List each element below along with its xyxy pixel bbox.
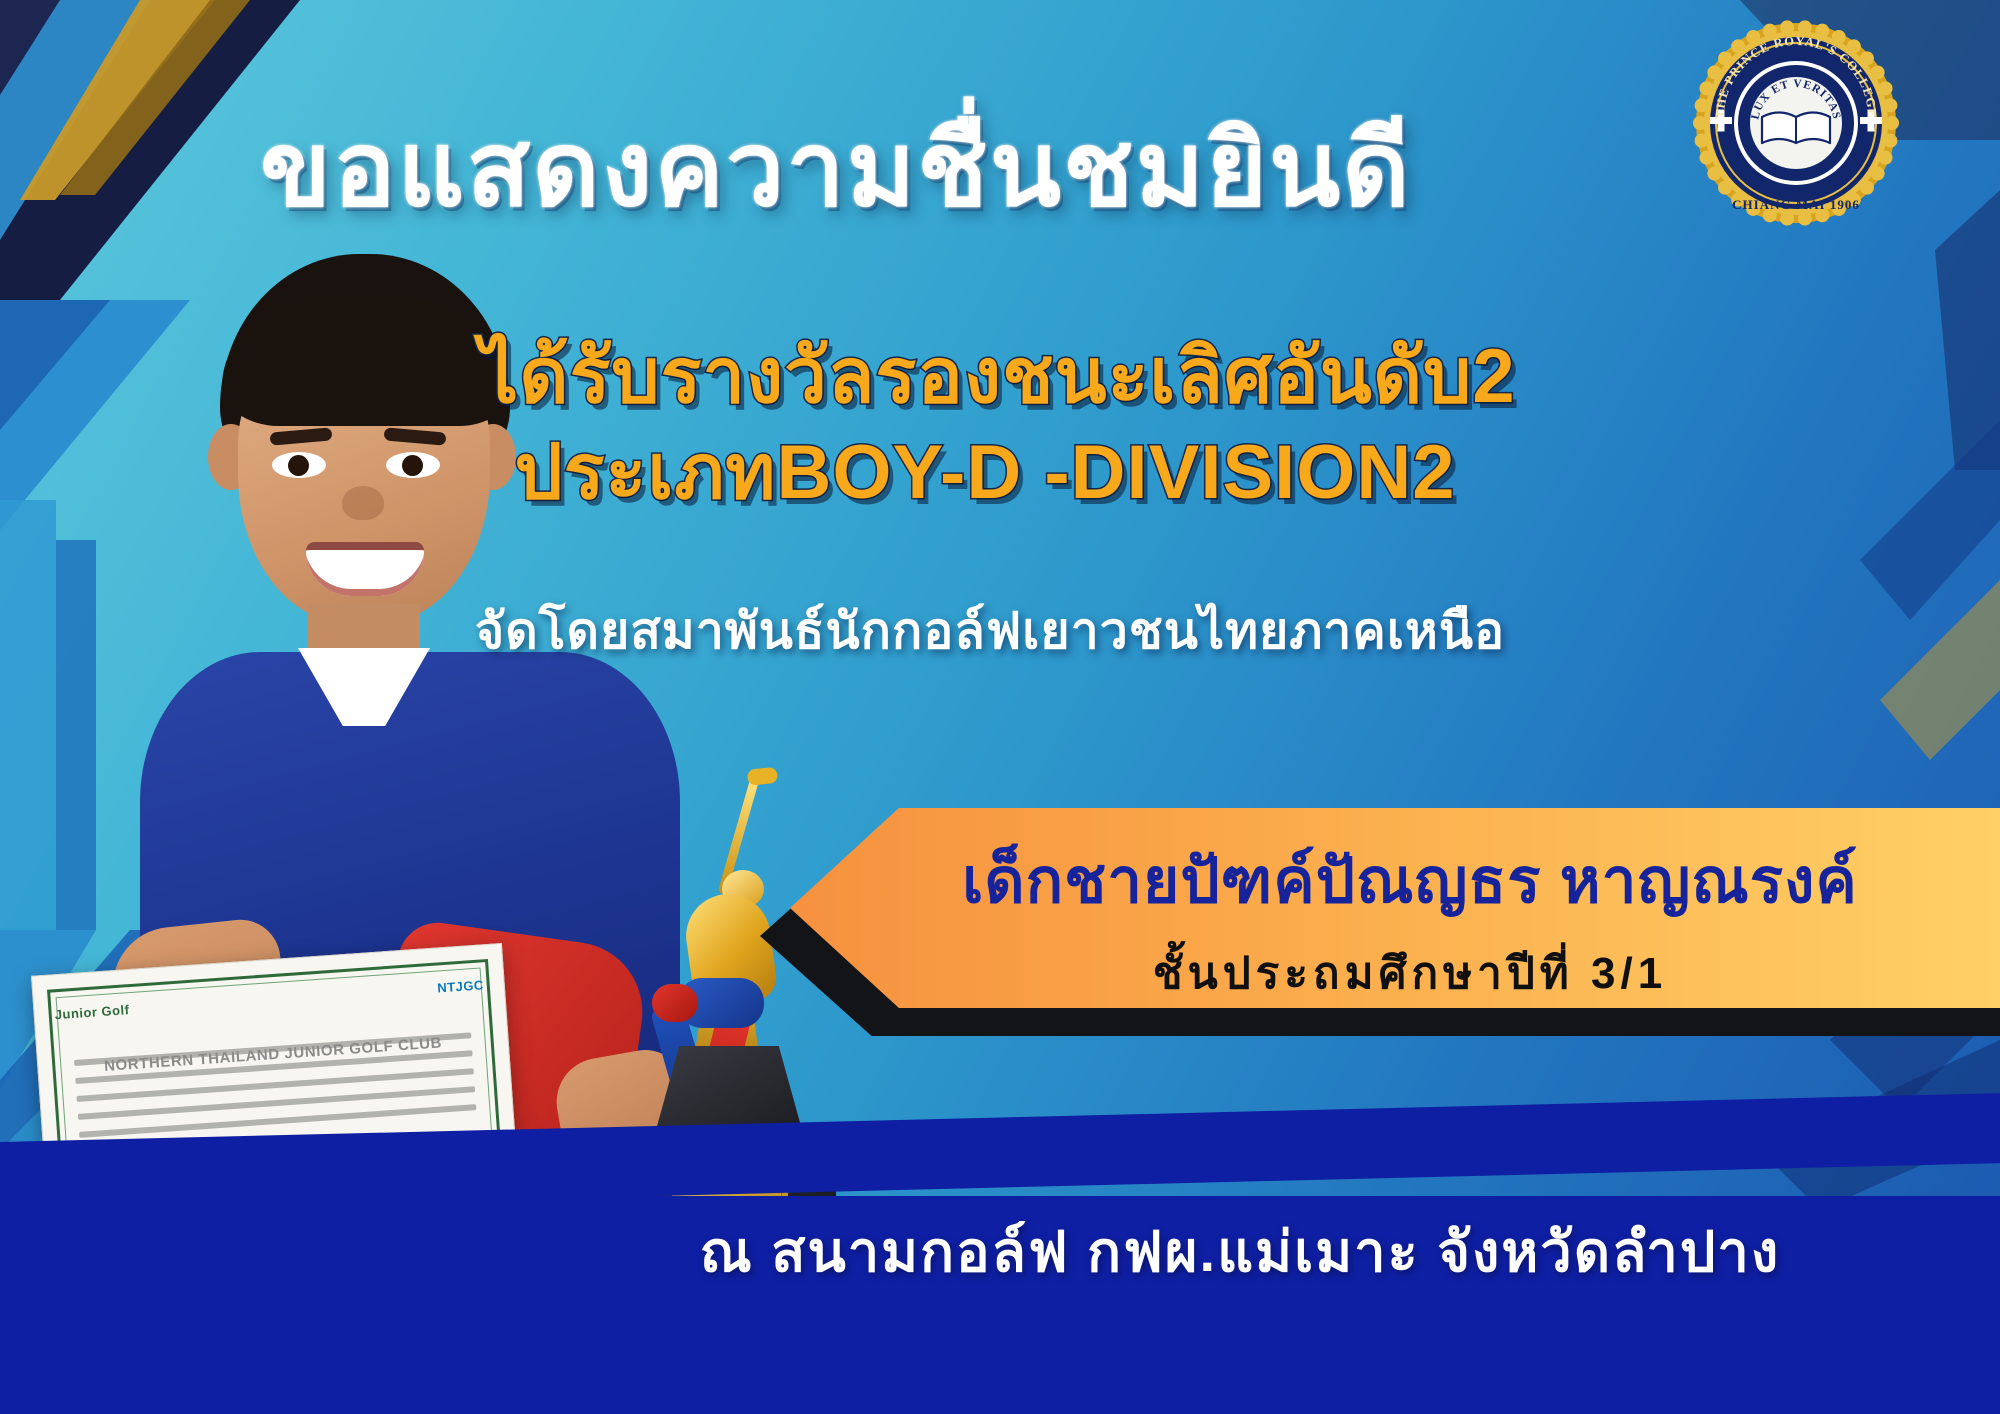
nose [342,486,384,520]
student-grade: ชั้นประถมศึกษาปีที่ 3/1 [880,938,1940,1008]
eye-left [272,452,326,478]
hair-fringe [222,296,508,426]
poster-canvas: THE PRINCE ROYAL'S COLLEGE LUX ET VERITA… [0,0,2000,1414]
ntjgc-logo: NTJGC [437,977,484,995]
venue-text: ณ สนามกอล์ฟ กฟผ.แม่เมาะ จังหวัดลำปาง [520,1207,1960,1296]
eye-right [386,452,440,478]
page-title: ขอแสดงความชื่นชมยินดี [260,118,1320,222]
crest-city-text: CHIANG MAI 1906 [1732,197,1860,212]
student-name: เด็กชายปัฑค์ปัณญธร หาญณรงค์ [880,832,1940,930]
junior-golf-logo: Junior Golf [54,1002,130,1022]
award-line-2: ประเภทBOY-D -DIVISION2 [480,434,1490,512]
award-line-1: ได้รับรางวัลรองชนะเลิศอันดับ2 [480,338,1490,416]
school-crest: THE PRINCE ROYAL'S COLLEGE LUX ET VERITA… [1646,20,1946,230]
ribbon-knot [678,978,764,1028]
organizer-text: จัดโดยสมาพันธ์นักกอล์ฟเยาวชนไทยภาคเหนือ [460,592,1520,671]
